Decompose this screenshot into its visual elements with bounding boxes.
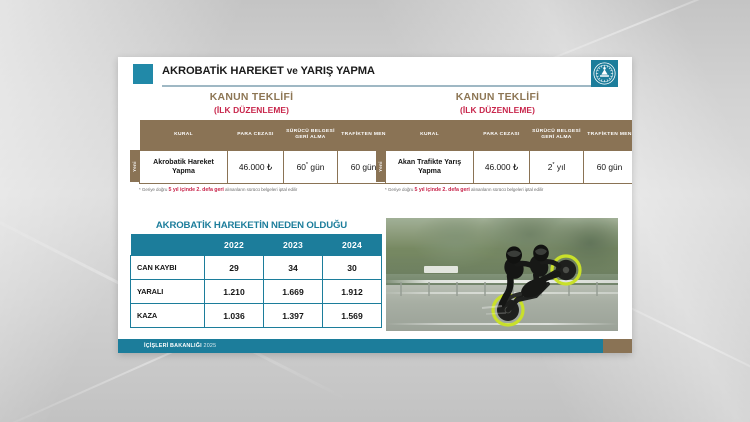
cell-licence-value: 60 xyxy=(297,162,306,172)
law-table-header-row: KURAL PARA CEZASI SÜRÜCÜ BELGESİ GERİ AL… xyxy=(386,120,633,151)
stat-kaza-2023: 1.397 xyxy=(264,304,323,328)
stat-can-kaybi-2022: 29 xyxy=(205,256,264,280)
statistics-block: AKROBATİK HAREKETİN NEDEN OLDUĞU 2022 20… xyxy=(130,220,373,328)
cell-licence-unit: yıl xyxy=(555,162,566,172)
col-header-licence: SÜRÜCÜ BELGESİ GERİ ALMA xyxy=(530,120,584,151)
law-heading: KANUN TEKLİFİ xyxy=(130,92,373,104)
law-footnote-pre: * Geriye doğru xyxy=(385,187,415,192)
law-table-body: Akrobatik Hareket Yapma 46.000 ₺ 60* gün… xyxy=(140,151,390,184)
statistics-table-header: 2022 2023 2024 xyxy=(131,234,382,256)
law-table-wrapper: Yeni KURAL PARA CEZASI SÜRÜCÜ BELGESİ GE… xyxy=(130,120,373,184)
title-accent-square xyxy=(133,64,153,84)
stat-can-kaybi-2024: 30 xyxy=(323,256,382,280)
statistics-corner-header xyxy=(131,234,205,256)
cell-rule: Akan Trafikte Yarış Yapma xyxy=(386,151,474,184)
law-table-body: Akan Trafikte Yarış Yapma 46.000 ₺ 2* yı… xyxy=(386,151,633,184)
table-row: YARALI 1.210 1.669 1.912 xyxy=(131,280,382,304)
law-subheading: (İLK DÜZENLEME) xyxy=(376,105,619,116)
law-footnote-emphasis: 5 yıl içinde 2. defa geri xyxy=(415,187,470,193)
stat-can-kaybi-2023: 34 xyxy=(264,256,323,280)
cell-ban: 60 gün xyxy=(584,151,633,184)
screen-backdrop: AKROBATİK HAREKET ve YARIŞ YAPMA xyxy=(0,0,750,422)
cell-fine: 46.000 ₺ xyxy=(228,151,284,184)
new-badge-label: Yeni xyxy=(378,161,383,172)
law-table: KURAL PARA CEZASI SÜRÜCÜ BELGESİ GERİ AL… xyxy=(139,120,390,184)
presentation-slide: AKROBATİK HAREKET ve YARIŞ YAPMA xyxy=(118,57,632,353)
law-table-header: KURAL PARA CEZASI SÜRÜCÜ BELGESİ GERİ AL… xyxy=(140,120,390,151)
law-proposal-block-yaris: KANUN TEKLİFİ (İLK DÜZENLEME) Yeni KURAL… xyxy=(376,92,619,193)
stat-yarali-2022: 1.210 xyxy=(205,280,264,304)
new-badge: Yeni xyxy=(376,150,385,182)
footer-organization: İÇİŞLERİ BAKANLIĞI 2025 xyxy=(144,343,216,349)
law-heading: KANUN TEKLİFİ xyxy=(376,92,619,104)
table-row: KAZA 1.036 1.397 1.569 xyxy=(131,304,382,328)
statistics-table: 2022 2023 2024 CAN KAYBI 29 34 30 YARALI… xyxy=(130,234,382,328)
law-proposal-block-akrobatik: KANUN TEKLİFİ (İLK DÜZENLEME) Yeni KURAL… xyxy=(130,92,373,193)
stat-kaza-2024: 1.569 xyxy=(323,304,382,328)
statistics-header-row: 2022 2023 2024 xyxy=(131,234,382,256)
law-footnote-pre: * Geriye doğru xyxy=(139,187,169,192)
page-title: AKROBATİK HAREKET ve YARIŞ YAPMA xyxy=(162,65,375,77)
stat-yarali-2023: 1.669 xyxy=(264,280,323,304)
stat-row-label-can-kaybi: CAN KAYBI xyxy=(131,256,205,280)
page-title-main: AKROBATİK HAREKET xyxy=(162,65,284,77)
title-underline xyxy=(162,85,592,87)
col-header-fine: PARA CEZASI xyxy=(474,120,530,151)
law-footnote-emphasis: 5 yıl içinde 2. defa geri xyxy=(169,187,224,193)
law-table-header: KURAL PARA CEZASI SÜRÜCÜ BELGESİ GERİ AL… xyxy=(386,120,633,151)
new-badge: Yeni xyxy=(130,150,139,182)
slide-header: AKROBATİK HAREKET ve YARIŞ YAPMA xyxy=(118,57,632,89)
cell-fine: 46.000 ₺ xyxy=(474,151,530,184)
page-title-conjunction: ve xyxy=(287,66,298,77)
col-header-licence: SÜRÜCÜ BELGESİ GERİ ALMA xyxy=(284,120,338,151)
table-row: CAN KAYBI 29 34 30 xyxy=(131,256,382,280)
new-badge-label: Yeni xyxy=(132,161,137,172)
stat-row-label-yarali: YARALI xyxy=(131,280,205,304)
law-table-wrapper: Yeni KURAL PARA CEZASI SÜRÜCÜ BELGESİ GE… xyxy=(376,120,619,184)
page-title-tail: YARIŞ YAPMA xyxy=(301,65,375,77)
motorcycle-wheelie-photo xyxy=(386,218,618,331)
statistics-year-header-2023: 2023 xyxy=(264,234,323,256)
law-table-header-row: KURAL PARA CEZASI SÜRÜCÜ BELGESİ GERİ AL… xyxy=(140,120,390,151)
law-table: KURAL PARA CEZASI SÜRÜCÜ BELGESİ GERİ AL… xyxy=(385,120,632,184)
col-header-fine: PARA CEZASI xyxy=(228,120,284,151)
law-footnote-post: alınanların sürücü belgeleri iptal edili… xyxy=(224,187,297,192)
stat-row-label-kaza: KAZA xyxy=(131,304,205,328)
statistics-title: AKROBATİK HAREKETİN NEDEN OLDUĞU xyxy=(130,220,373,231)
footer-corner-accent xyxy=(603,339,632,353)
stat-kaza-2022: 1.036 xyxy=(205,304,264,328)
footer-org-name: İÇİŞLERİ BAKANLIĞI xyxy=(144,343,202,349)
slide-footer: İÇİŞLERİ BAKANLIĞI 2025 xyxy=(118,339,632,353)
table-row: Akan Trafikte Yarış Yapma 46.000 ₺ 2* yı… xyxy=(386,151,633,184)
statistics-year-header-2024: 2024 xyxy=(323,234,382,256)
footer-year: 2025 xyxy=(204,343,217,349)
statistics-table-body: CAN KAYBI 29 34 30 YARALI 1.210 1.669 1.… xyxy=(131,256,382,328)
cell-licence-unit: gün xyxy=(308,162,324,172)
ministry-emblem-icon xyxy=(591,60,618,87)
law-footnote-post: alınanların sürücü belgeleri iptal edili… xyxy=(470,187,543,192)
cell-licence: 60* gün xyxy=(284,151,338,184)
cell-licence: 2* yıl xyxy=(530,151,584,184)
law-footnote: * Geriye doğru 5 yıl içinde 2. defa geri… xyxy=(376,187,619,193)
statistics-year-header-2022: 2022 xyxy=(205,234,264,256)
cell-rule: Akrobatik Hareket Yapma xyxy=(140,151,228,184)
col-header-ban: TRAFİKTEN MEN xyxy=(584,120,633,151)
col-header-rule: KURAL xyxy=(386,120,474,151)
law-footnote: * Geriye doğru 5 yıl içinde 2. defa geri… xyxy=(130,187,373,193)
col-header-rule: KURAL xyxy=(140,120,228,151)
law-subheading: (İLK DÜZENLEME) xyxy=(130,105,373,116)
table-row: Akrobatik Hareket Yapma 46.000 ₺ 60* gün… xyxy=(140,151,390,184)
stat-yarali-2024: 1.912 xyxy=(323,280,382,304)
motorcycle-rider-figure xyxy=(386,218,618,331)
